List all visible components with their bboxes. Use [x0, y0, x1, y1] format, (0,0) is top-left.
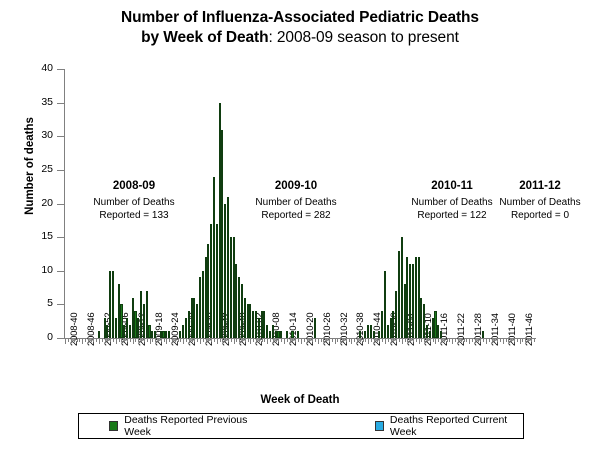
bar [277, 331, 279, 338]
x-axis-tick [379, 338, 380, 342]
bar [395, 291, 397, 338]
x-axis-tick [489, 338, 490, 342]
x-axis-tick [514, 338, 515, 342]
bar [205, 257, 207, 338]
season-annotation-2011-12: 2011-12Number of Deaths Reported = 0 [480, 180, 600, 222]
season-label: 2008-09 [74, 180, 194, 192]
x-axis-tick [225, 338, 226, 342]
bar [392, 311, 394, 338]
x-axis-tick [93, 338, 94, 342]
x-axis-tick [79, 338, 80, 342]
bar [191, 298, 193, 338]
y-axis-tick-label: 10 [41, 264, 53, 276]
x-axis-tick [441, 338, 442, 342]
x-axis-tick [534, 338, 535, 342]
bar [233, 237, 235, 338]
x-axis-tick [214, 338, 215, 342]
x-axis-title: Week of Death [0, 394, 600, 406]
y-axis-tick: 5 [57, 304, 64, 305]
x-axis-tick [197, 338, 198, 342]
bar [434, 311, 436, 338]
x-axis-tick [368, 338, 369, 344]
x-axis-tick [267, 338, 268, 344]
x-axis-tick [522, 338, 523, 342]
bar [432, 318, 434, 338]
x-axis-tick [231, 338, 232, 342]
x-axis-tick [116, 338, 117, 344]
legend-label: Deaths Reported Current Week [390, 414, 523, 438]
x-axis-tick [478, 338, 479, 342]
x-axis-tick [385, 338, 386, 344]
x-axis-tick [506, 338, 507, 342]
bar [426, 325, 428, 338]
x-axis-tick [133, 338, 134, 344]
bar [409, 264, 411, 338]
bar [412, 264, 414, 338]
bar [106, 325, 108, 338]
x-axis-tick [449, 338, 450, 342]
x-axis-tick [222, 338, 223, 342]
x-axis-tick [259, 338, 260, 342]
bar [272, 325, 274, 338]
x-axis-tick [472, 338, 473, 342]
x-axis-tick [113, 338, 114, 342]
x-axis-tick [107, 338, 108, 342]
x-axis-tick [161, 338, 162, 342]
bar [266, 325, 268, 338]
bar [182, 325, 184, 338]
x-axis-tick [402, 338, 403, 344]
bar [196, 304, 198, 338]
y-axis-tick: 15 [57, 237, 64, 238]
x-axis-tick [374, 338, 375, 342]
x-axis-tick [458, 338, 459, 342]
season-death-count: Number of Deaths Reported = 282 [236, 197, 356, 222]
bar [390, 318, 392, 338]
bar [126, 318, 128, 338]
bar [280, 331, 282, 338]
bar [179, 331, 181, 338]
x-axis-tick [71, 338, 72, 342]
x-axis-tick [141, 338, 142, 342]
x-axis-tick [273, 338, 274, 342]
x-axis-tick [144, 338, 145, 342]
x-axis-tick [329, 338, 330, 342]
x-axis-tick [74, 338, 75, 342]
bar [112, 271, 114, 338]
legend-entry: Deaths Reported Current Week [375, 414, 523, 438]
bar [199, 277, 201, 338]
x-axis-tick [65, 338, 66, 344]
x-axis-tick [304, 338, 305, 342]
bar [104, 318, 106, 338]
bar [123, 325, 125, 338]
x-axis-tick [281, 338, 282, 342]
bar [235, 264, 237, 338]
bar [207, 244, 209, 338]
bar [98, 331, 100, 338]
x-axis-tick [88, 338, 89, 342]
bar [241, 284, 243, 338]
season-label: 2009-10 [236, 180, 356, 192]
x-axis-tick [253, 338, 254, 342]
bar [381, 311, 383, 338]
x-axis-tick [419, 338, 420, 344]
x-axis-tick [105, 338, 106, 342]
x-axis-tick [388, 338, 389, 342]
bar [118, 284, 120, 338]
bar [398, 251, 400, 338]
bar [216, 224, 218, 338]
season-annotation-2008-09: 2008-09Number of Deaths Reported = 133 [74, 180, 194, 222]
x-axis-tick [452, 338, 453, 344]
bar [367, 325, 369, 338]
y-axis-tick-label: 40 [41, 62, 53, 74]
x-axis-tick [399, 338, 400, 342]
bar [202, 271, 204, 338]
x-axis-tick [192, 338, 193, 342]
x-axis-tick [377, 338, 378, 342]
bar [134, 311, 136, 338]
y-axis-tick: 25 [57, 170, 64, 171]
x-axis-tick [298, 338, 299, 342]
x-axis-tick [435, 338, 436, 344]
bar [143, 304, 145, 338]
x-axis-tick [228, 338, 229, 342]
y-axis-tick: 10 [57, 271, 64, 272]
bar [406, 257, 408, 338]
bar [188, 311, 190, 338]
chart-title-line-1: Number of Influenza-Associated Pediatric… [0, 8, 600, 28]
x-axis-tick [194, 338, 195, 342]
x-axis-tick [250, 338, 251, 344]
x-axis-tick [346, 338, 347, 342]
x-axis-tick [150, 338, 151, 344]
bar [258, 318, 260, 338]
bar [148, 325, 150, 338]
chart-title-line-2-light: : 2008-09 season to present [268, 29, 458, 46]
y-axis-tick: 30 [57, 136, 64, 137]
x-axis-tick [200, 338, 201, 344]
bar [227, 197, 229, 338]
x-axis-tick [531, 338, 532, 342]
bar [423, 304, 425, 338]
x-axis-tick [354, 338, 355, 342]
bar [482, 331, 484, 338]
x-axis-tick [236, 338, 237, 342]
x-axis-tick [492, 338, 493, 342]
x-axis-tick [525, 338, 526, 342]
y-axis-tick-label: 35 [41, 96, 53, 108]
bar [275, 331, 277, 338]
x-axis-tick [393, 338, 394, 342]
x-axis-tick [158, 338, 159, 342]
x-axis-tick [407, 338, 408, 342]
bar [364, 331, 366, 338]
x-axis-tick [337, 338, 338, 342]
x-axis-tick [102, 338, 103, 342]
bar [162, 331, 164, 338]
x-axis-tick [155, 338, 156, 342]
bar [132, 298, 134, 338]
x-axis-tick [444, 338, 445, 342]
y-axis-tick: 35 [57, 103, 64, 104]
x-axis-tick [365, 338, 366, 342]
x-axis-tick [520, 338, 521, 344]
bar [420, 298, 422, 338]
x-axis-tick [166, 338, 167, 344]
x-axis-tick [500, 338, 501, 342]
bar [429, 331, 431, 338]
bar [146, 291, 148, 338]
bar [109, 271, 111, 338]
chart-title-line-2-bold: by Week of Death [141, 29, 268, 46]
x-axis-tick [312, 338, 313, 342]
x-axis-tick [511, 338, 512, 342]
y-axis-tick-label: 30 [41, 129, 53, 141]
x-axis-tick [335, 338, 336, 344]
x-axis-tick [180, 338, 181, 342]
x-axis-tick [138, 338, 139, 342]
bar [249, 304, 251, 338]
bar [168, 331, 170, 338]
x-axis-tick [318, 338, 319, 344]
x-axis-tick [262, 338, 263, 342]
x-axis-tick [427, 338, 428, 342]
bar [213, 177, 215, 338]
bar [120, 304, 122, 338]
bar [314, 318, 316, 338]
x-axis-tick [461, 338, 462, 342]
bar [140, 291, 142, 338]
x-axis-tick [343, 338, 344, 342]
x-axis-tick [494, 338, 495, 342]
x-axis-tick [124, 338, 125, 342]
bar [263, 311, 265, 338]
y-axis-tick-label: 20 [41, 197, 53, 209]
bar [129, 325, 131, 338]
bar [261, 311, 263, 338]
x-axis-tick [203, 338, 204, 342]
x-axis-tick [82, 338, 83, 344]
x-axis-tick [68, 338, 69, 342]
x-axis-tick [438, 338, 439, 342]
y-axis-tick: 20 [57, 204, 64, 205]
bar [115, 318, 117, 338]
x-axis-tick [121, 338, 122, 342]
bar [387, 325, 389, 338]
season-annotation-2009-10: 2009-10Number of Deaths Reported = 282 [236, 180, 356, 222]
x-axis-tick [416, 338, 417, 342]
x-axis-tick [264, 338, 265, 342]
x-axis-tick [172, 338, 173, 342]
bar [404, 284, 406, 338]
x-axis-tick [360, 338, 361, 342]
bar [252, 311, 254, 338]
x-axis-tick [245, 338, 246, 342]
x-axis-tick [183, 338, 184, 344]
x-axis-tick [147, 338, 148, 342]
x-axis-tick [433, 338, 434, 342]
x-axis-tick [284, 338, 285, 344]
bar [373, 331, 375, 338]
x-axis-tick [466, 338, 467, 342]
bar [415, 257, 417, 338]
bar [151, 331, 153, 338]
x-axis-tick [309, 338, 310, 342]
x-axis-tick [169, 338, 170, 342]
x-axis-tick [276, 338, 277, 342]
x-axis-tick [480, 338, 481, 342]
legend-entry: Deaths Reported Previous Week [109, 414, 263, 438]
x-axis-tick [175, 338, 176, 342]
y-axis-tick-label: 15 [41, 230, 53, 242]
x-axis-tick [270, 338, 271, 342]
x-axis-tick [301, 338, 302, 344]
x-axis-tick [357, 338, 358, 342]
x-axis-tick [351, 338, 352, 344]
x-axis-tick [178, 338, 179, 342]
x-axis-tick [152, 338, 153, 342]
x-axis-tick [405, 338, 406, 342]
x-axis-tick [248, 338, 249, 342]
x-axis-tick [447, 338, 448, 342]
bar [247, 304, 249, 338]
x-axis-tick [186, 338, 187, 342]
legend-label: Deaths Reported Previous Week [124, 414, 262, 438]
bar [238, 277, 240, 338]
bar [160, 331, 162, 338]
x-axis-tick [340, 338, 341, 342]
x-axis-tick [326, 338, 327, 342]
bar [370, 325, 372, 338]
x-axis-tick [220, 338, 221, 342]
bar [291, 331, 293, 338]
x-axis-tick [110, 338, 111, 342]
x-axis-tick [239, 338, 240, 342]
x-axis-tick [135, 338, 136, 342]
bar [185, 318, 187, 338]
x-axis-tick [127, 338, 128, 342]
x-axis-tick [206, 338, 207, 342]
bar [210, 224, 212, 338]
bar [224, 204, 226, 339]
x-axis-tick [130, 338, 131, 342]
x-axis-tick [85, 338, 86, 342]
bar [230, 237, 232, 338]
x-axis-tick [430, 338, 431, 342]
bar [269, 331, 271, 338]
legend-color-swatch [375, 421, 384, 431]
x-axis-tick [290, 338, 291, 342]
x-axis-tick [332, 338, 333, 342]
x-axis-tick [391, 338, 392, 342]
x-axis-tick [307, 338, 308, 342]
x-axis-tick [119, 338, 120, 342]
x-axis-tick [382, 338, 383, 342]
x-axis-tick [278, 338, 279, 342]
x-axis-tick [315, 338, 316, 342]
chart-title-line-2: by Week of Death: 2008-09 season to pres… [0, 28, 600, 48]
x-axis-tick [256, 338, 257, 342]
bar [401, 237, 403, 338]
y-axis-tick-label: 0 [47, 331, 53, 343]
season-death-count: Number of Deaths Reported = 133 [74, 197, 194, 222]
bar [165, 331, 167, 338]
bar [418, 257, 420, 338]
x-axis-tick [413, 338, 414, 342]
page-title: Number of Influenza-Associated Pediatric… [0, 8, 600, 48]
x-axis-tick [234, 338, 235, 344]
x-axis-tick [321, 338, 322, 342]
x-axis-tick [91, 338, 92, 342]
bar [286, 331, 288, 338]
x-axis-tick [455, 338, 456, 342]
x-axis-tick [497, 338, 498, 342]
x-axis-tick [189, 338, 190, 342]
bar [255, 311, 257, 338]
season-death-count: Number of Deaths Reported = 0 [480, 197, 600, 222]
bar [440, 331, 442, 338]
x-axis-tick [528, 338, 529, 342]
x-axis-tick [410, 338, 411, 342]
bar [219, 103, 221, 338]
x-axis-tick [508, 338, 509, 342]
x-axis-tick [464, 338, 465, 342]
bar [221, 130, 223, 338]
bar [137, 318, 139, 338]
bar [378, 331, 380, 338]
season-label: 2011-12 [480, 180, 600, 192]
x-axis-tick [517, 338, 518, 342]
x-axis-tick [396, 338, 397, 342]
x-axis-tick [96, 338, 97, 342]
y-axis-tick-label: 5 [47, 297, 53, 309]
x-axis-tick [349, 338, 350, 342]
y-axis-tick: 0 [57, 338, 64, 339]
x-axis-tick [287, 338, 288, 342]
bar [244, 298, 246, 338]
x-axis-tick [475, 338, 476, 342]
x-axis-tick [503, 338, 504, 344]
x-axis-tick [363, 338, 364, 342]
x-axis-tick [424, 338, 425, 342]
x-axis-tick [295, 338, 296, 342]
x-axis-tick [99, 338, 100, 344]
x-axis-tick [211, 338, 212, 342]
x-axis-tick [371, 338, 372, 342]
x-axis-tick [469, 338, 470, 344]
y-axis-tick: 40 [57, 69, 64, 70]
bar [154, 331, 156, 338]
x-axis-tick [208, 338, 209, 342]
x-axis-tick [242, 338, 243, 342]
legend-color-swatch [109, 421, 118, 431]
bar [384, 271, 386, 338]
bar [297, 331, 299, 338]
x-axis-tick [486, 338, 487, 344]
chart-legend: Deaths Reported Previous WeekDeaths Repo… [78, 413, 524, 439]
bar [437, 325, 439, 338]
x-axis-tick [217, 338, 218, 344]
x-axis-tick [164, 338, 165, 342]
x-axis-tick [421, 338, 422, 342]
y-axis-title: Number of deaths [24, 96, 36, 236]
bar [193, 298, 195, 338]
x-axis-tick [77, 338, 78, 342]
x-axis-tick [323, 338, 324, 342]
y-axis-tick-label: 25 [41, 163, 53, 175]
